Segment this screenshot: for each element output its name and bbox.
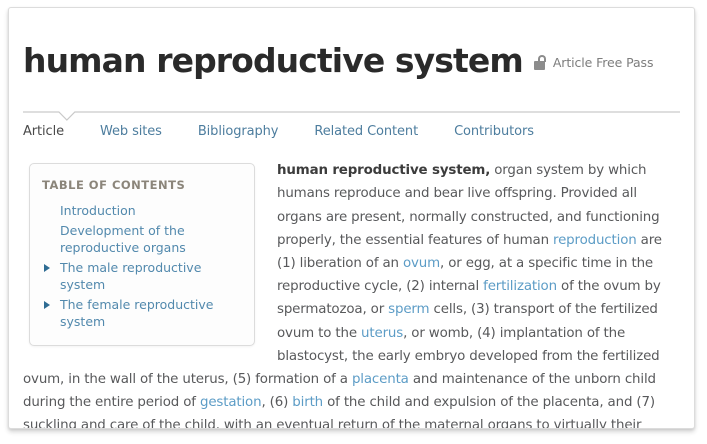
- link-fertilization[interactable]: fertilization: [483, 279, 557, 294]
- toc-item-label: Introduction: [60, 203, 136, 218]
- body-segment: , (6): [261, 395, 292, 410]
- link-birth[interactable]: birth: [292, 395, 323, 410]
- toc-item-label: The female reproductive system: [60, 297, 213, 329]
- tab-web-sites[interactable]: Web sites: [100, 120, 162, 143]
- tab-related-content[interactable]: Related Content: [314, 120, 418, 143]
- toc-item-the-male-reproductive-system[interactable]: The male reproductive system: [42, 259, 242, 293]
- page-title: human reproductive system: [23, 44, 523, 77]
- expand-triangle-icon[interactable]: [44, 264, 50, 272]
- article-page-card: human reproductive system Article Free P…: [8, 7, 695, 429]
- article-content: TABLE OF CONTENTS Introduction Developme…: [9, 151, 694, 429]
- table-of-contents: TABLE OF CONTENTS Introduction Developme…: [29, 163, 255, 346]
- article-free-pass-badge: Article Free Pass: [534, 54, 654, 70]
- tab-list: Article Web sites Bibliography Related C…: [23, 120, 570, 143]
- toc-item-label: The male reproductive system: [60, 260, 201, 292]
- link-reproduction[interactable]: reproduction: [553, 233, 637, 248]
- tab-article[interactable]: Article: [23, 120, 64, 143]
- toc-heading: TABLE OF CONTENTS: [42, 178, 242, 192]
- free-pass-label: Article Free Pass: [553, 55, 654, 70]
- link-ovum[interactable]: ovum: [403, 256, 440, 271]
- article-header: human reproductive system Article Free P…: [9, 8, 694, 99]
- link-uterus[interactable]: uterus: [361, 326, 403, 341]
- tab-bibliography[interactable]: Bibliography: [198, 120, 279, 143]
- toc-item-the-female-reproductive-system[interactable]: The female reproductive system: [42, 296, 242, 330]
- link-gestation[interactable]: gestation: [200, 395, 261, 410]
- unlocked-padlock-icon: [534, 55, 548, 71]
- toc-list: Introduction Development of the reproduc…: [42, 202, 242, 330]
- lead-term: human reproductive system,: [277, 163, 490, 178]
- toc-item-label: Development of the reproductive organs: [60, 223, 186, 255]
- expand-triangle-icon[interactable]: [44, 301, 50, 309]
- toc-item-development-of-the-reproductive-organs[interactable]: Development of the reproductive organs: [42, 222, 242, 256]
- tab-contributors[interactable]: Contributors: [454, 120, 534, 143]
- article-tab-bar: Article Web sites Bibliography Related C…: [23, 111, 680, 151]
- link-sperm[interactable]: sperm: [388, 302, 429, 317]
- link-placenta[interactable]: placenta: [352, 372, 409, 387]
- toc-item-introduction[interactable]: Introduction: [42, 202, 242, 219]
